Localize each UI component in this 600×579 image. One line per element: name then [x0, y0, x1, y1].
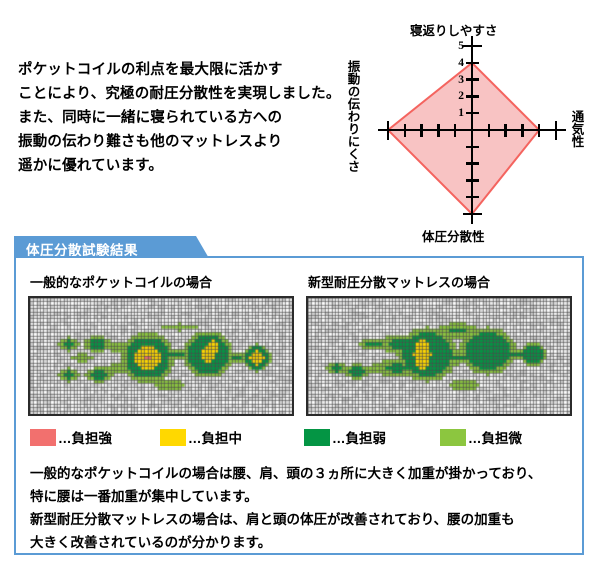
radar-tick: [466, 162, 479, 165]
radar-tick: [466, 146, 479, 149]
results-note: 一般的なポケットコイルの場合は腰、肩、頭の３ヵ所に大きく加重が掛かっており、 特…: [30, 462, 560, 554]
legend-swatch-low: [304, 429, 330, 446]
intro-line: 振動の伝わり難さも他のマットレスより: [18, 130, 338, 154]
radar-scale-number: 2: [458, 90, 468, 102]
radar-tick: [538, 124, 541, 137]
legend-swatch-minimal: [440, 429, 466, 446]
radar-tick: [504, 124, 507, 137]
radar-axis-label-left: 振動の伝わりにくさ: [346, 60, 359, 173]
radar-tick: [404, 124, 407, 137]
note-line: 特に腰は一番加重が集中しています。: [30, 485, 560, 508]
radar-tick: [466, 196, 479, 199]
legend-item-minimal: …負担微: [440, 428, 522, 446]
note-line: 新型耐圧分散マットレスの場合は、肩と頭の体圧が改善されており、腰の加重も: [30, 508, 560, 531]
radar-scale-number: 5: [458, 40, 468, 52]
radar-tick: [488, 124, 491, 137]
radar-scale-number: 1: [458, 107, 468, 119]
intro-line: ポケットコイルの利点を最大限に活かす: [18, 58, 338, 82]
legend-label-medium: …負担中: [188, 427, 242, 447]
legend-label-minimal: …負担微: [468, 427, 522, 447]
legend-label-high: …負担強: [58, 427, 112, 447]
column-heading-conventional: 一般的なポケットコイルの場合: [30, 272, 212, 291]
radar-scale-number: 3: [458, 74, 468, 86]
radar-tick: [466, 179, 479, 182]
intro-line: また、同時に一緒に寝られている方への: [18, 106, 338, 130]
radar-tick: [521, 124, 524, 137]
column-heading-new: 新型耐圧分散マットレスの場合: [308, 272, 490, 291]
legend-swatch-high: [30, 429, 56, 446]
legend-item-low: …負担弱: [304, 428, 386, 446]
legend-item-medium: …負担中: [160, 428, 242, 446]
intro-line: 遥かに優れています。: [18, 154, 338, 178]
radar-axis-label-top: 寝返りしやすさ: [410, 20, 497, 39]
note-line: 大きく改善されているのが分かります。: [30, 531, 560, 554]
radar-tick: [454, 124, 457, 137]
radar-tick: [437, 124, 440, 137]
pressure-map-new: [306, 296, 572, 416]
radar-axis-label-right: 通気性: [570, 110, 583, 148]
radar-tick: [387, 121, 390, 140]
radar-scale-number: 4: [458, 57, 468, 69]
legend-label-low: …負担弱: [332, 427, 386, 447]
pressure-map-conventional: [28, 296, 294, 416]
radar-plot-area: 12345: [388, 46, 556, 214]
radar-axis-label-bottom: 体圧分散性: [422, 226, 485, 245]
radar-tick: [420, 124, 423, 137]
legend-item-high: …負担強: [30, 428, 112, 446]
intro-paragraph: ポケットコイルの利点を最大限に活かす ことにより、究極の耐圧分散性を実現しました…: [18, 58, 338, 178]
intro-line: ことにより、究極の耐圧分散性を実現しました。: [18, 82, 338, 106]
radar-tick: [463, 213, 482, 216]
radar-chart: 寝返りしやすさ 振動の伝わりにくさ 通気性 体圧分散性 12345: [342, 18, 598, 246]
legend-swatch-medium: [160, 429, 186, 446]
radar-tick: [555, 121, 558, 140]
note-line: 一般的なポケットコイルの場合は腰、肩、頭の３ヵ所に大きく加重が掛かっており、: [30, 462, 560, 485]
